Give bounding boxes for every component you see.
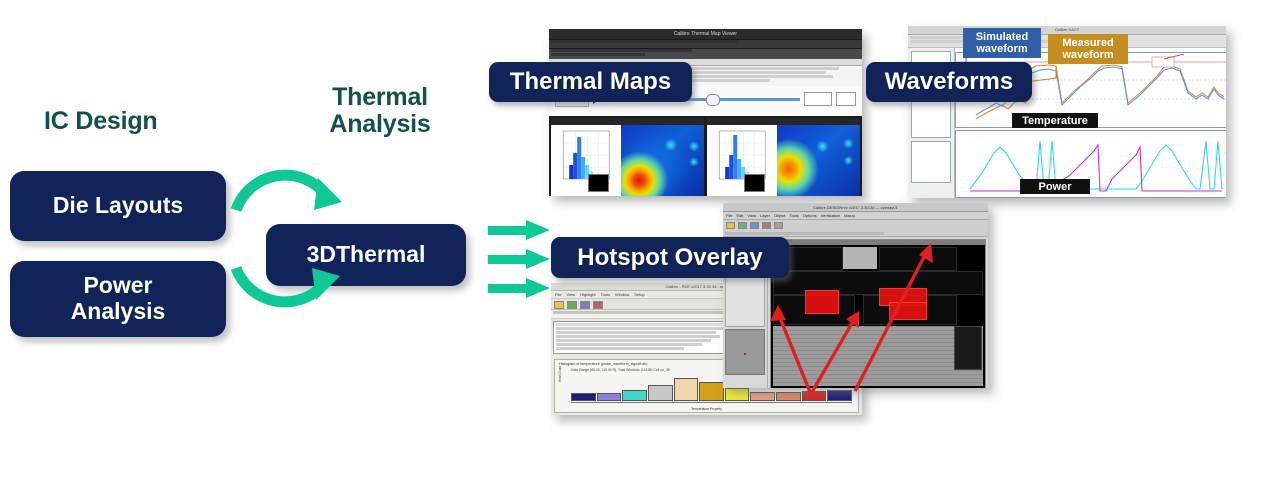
histogram-bar	[622, 390, 647, 401]
rve-menu-setup[interactable]: Setup	[634, 291, 644, 298]
designrev-menu-macro[interactable]: Macro	[844, 212, 855, 219]
rve-histogram-subtitle: Data Range (80.00, 119.00 R), Total Wind…	[571, 368, 670, 372]
histogram-bar	[674, 378, 699, 401]
histogram-bar	[597, 393, 622, 401]
designrev-titlebar: Calibre DESIGNrev v2017.3.30.24 — overla…	[723, 203, 988, 212]
thermal-maps-titlebar: Calibre Thermal Map Viewer	[549, 29, 862, 39]
waveform-tag-temperature: Temperature	[1012, 113, 1098, 128]
thermal-maps-panels	[549, 116, 862, 196]
box-power-analysis[interactable]: Power Analysis	[10, 261, 226, 337]
callout-simulated-line2: waveform	[976, 43, 1029, 55]
thermal-map-panel-left[interactable]	[551, 118, 704, 196]
box-power-analysis-line1: Power	[71, 273, 166, 299]
flow-arrow-icon-2	[488, 248, 550, 270]
panel-right-heatmap[interactable]	[777, 125, 860, 196]
designrev-menu-options[interactable]: Options	[803, 212, 817, 219]
panel-right-titlebar	[707, 118, 860, 125]
designrev-menubar[interactable]: File Edit View Layer Object Tools Option…	[723, 212, 988, 220]
histogram-bar	[827, 390, 852, 401]
rve-menu-view[interactable]: View	[566, 291, 575, 298]
designrev-menu-tools[interactable]: Tools	[790, 212, 799, 219]
panel-left-color-swatch	[588, 174, 609, 192]
designrev-menu-edit[interactable]: Edit	[736, 212, 743, 219]
histogram-bar	[725, 388, 750, 401]
cycle-arrows-icon	[228, 148, 360, 328]
diagram-canvas: IC Design Thermal Analysis Die Layouts P…	[0, 0, 1280, 477]
callout-simulated-line1: Simulated	[976, 31, 1029, 43]
designrev-layout-canvas[interactable]	[770, 239, 986, 388]
heading-ic-design: IC Design	[44, 108, 158, 135]
histogram-bar	[776, 392, 801, 402]
box-die-layouts[interactable]: Die Layouts	[10, 171, 226, 241]
histogram-bar	[648, 385, 673, 401]
rve-menu-file[interactable]: File	[555, 291, 561, 298]
rve-menu-highlight[interactable]: Highlight	[580, 291, 596, 298]
rve-menu-window[interactable]: Window	[615, 291, 629, 298]
rve-histogram-xlabel: Temperature Property	[555, 407, 858, 411]
callout-hotspot-overlay[interactable]: Hotspot Overlay	[551, 237, 789, 278]
rve-menu-tools[interactable]: Tools	[601, 291, 610, 298]
rve-histogram-title: Histogram of temperature (probe_waveform…	[559, 362, 647, 366]
callout-waveforms[interactable]: Waveforms	[866, 62, 1032, 102]
thermal-maps-menubar[interactable]	[549, 40, 862, 48]
panel-left-histogram	[551, 125, 621, 196]
panel-left-titlebar	[551, 118, 704, 125]
designrev-menu-layer[interactable]: Layer	[760, 212, 770, 219]
histogram-bar	[699, 382, 724, 401]
hotspot-overlay-right-2[interactable]	[889, 302, 927, 320]
box-power-analysis-line2: Analysis	[71, 299, 166, 325]
thermal-maps-toolbar[interactable]	[549, 49, 862, 59]
callout-measured-waveform: Measured waveform	[1048, 34, 1128, 64]
thermal-map-panel-right[interactable]	[707, 118, 860, 196]
flow-arrow-icon-3	[488, 277, 550, 299]
histogram-bar	[750, 392, 775, 401]
screenshot-thermal-maps-window[interactable]: Calibre Thermal Map Viewer	[549, 29, 862, 196]
designrev-menu-file[interactable]: File	[726, 212, 732, 219]
panel-left-heatmap[interactable]	[621, 125, 704, 196]
callout-measured-line1: Measured	[1062, 37, 1113, 49]
rve-check-list[interactable]	[553, 321, 737, 354]
callout-measured-line2: waveform	[1062, 49, 1113, 61]
rve-histogram-ylabel: Heat Count	[558, 366, 562, 382]
designrev-menu-view[interactable]: View	[747, 212, 756, 219]
designrev-toolbar[interactable]	[723, 220, 988, 237]
heading-thermal-analysis: Thermal Analysis	[296, 84, 464, 138]
callout-simulated-waveform: Simulated waveform	[963, 28, 1041, 58]
designrev-menu-object[interactable]: Object	[774, 212, 786, 219]
screenshot-designrev-window[interactable]: Calibre DESIGNrev v2017.3.30.24 — overla…	[723, 203, 988, 388]
waveform-chart-power	[955, 130, 1226, 198]
hotspot-overlay-left[interactable]	[805, 290, 839, 314]
panel-right-color-swatch	[744, 174, 765, 192]
waveform-tag-power: Power	[1020, 179, 1090, 194]
panel-right-histogram	[707, 125, 777, 196]
callout-thermal-maps[interactable]: Thermal Maps	[489, 62, 692, 102]
heading-thermal-analysis-line2: Analysis	[296, 111, 464, 138]
histogram-bar	[571, 393, 596, 401]
histogram-bar	[802, 391, 827, 401]
flow-arrow-icon-1	[488, 219, 550, 241]
heading-thermal-analysis-line1: Thermal	[296, 84, 464, 111]
designrev-menu-verification[interactable]: Verification	[821, 212, 841, 219]
